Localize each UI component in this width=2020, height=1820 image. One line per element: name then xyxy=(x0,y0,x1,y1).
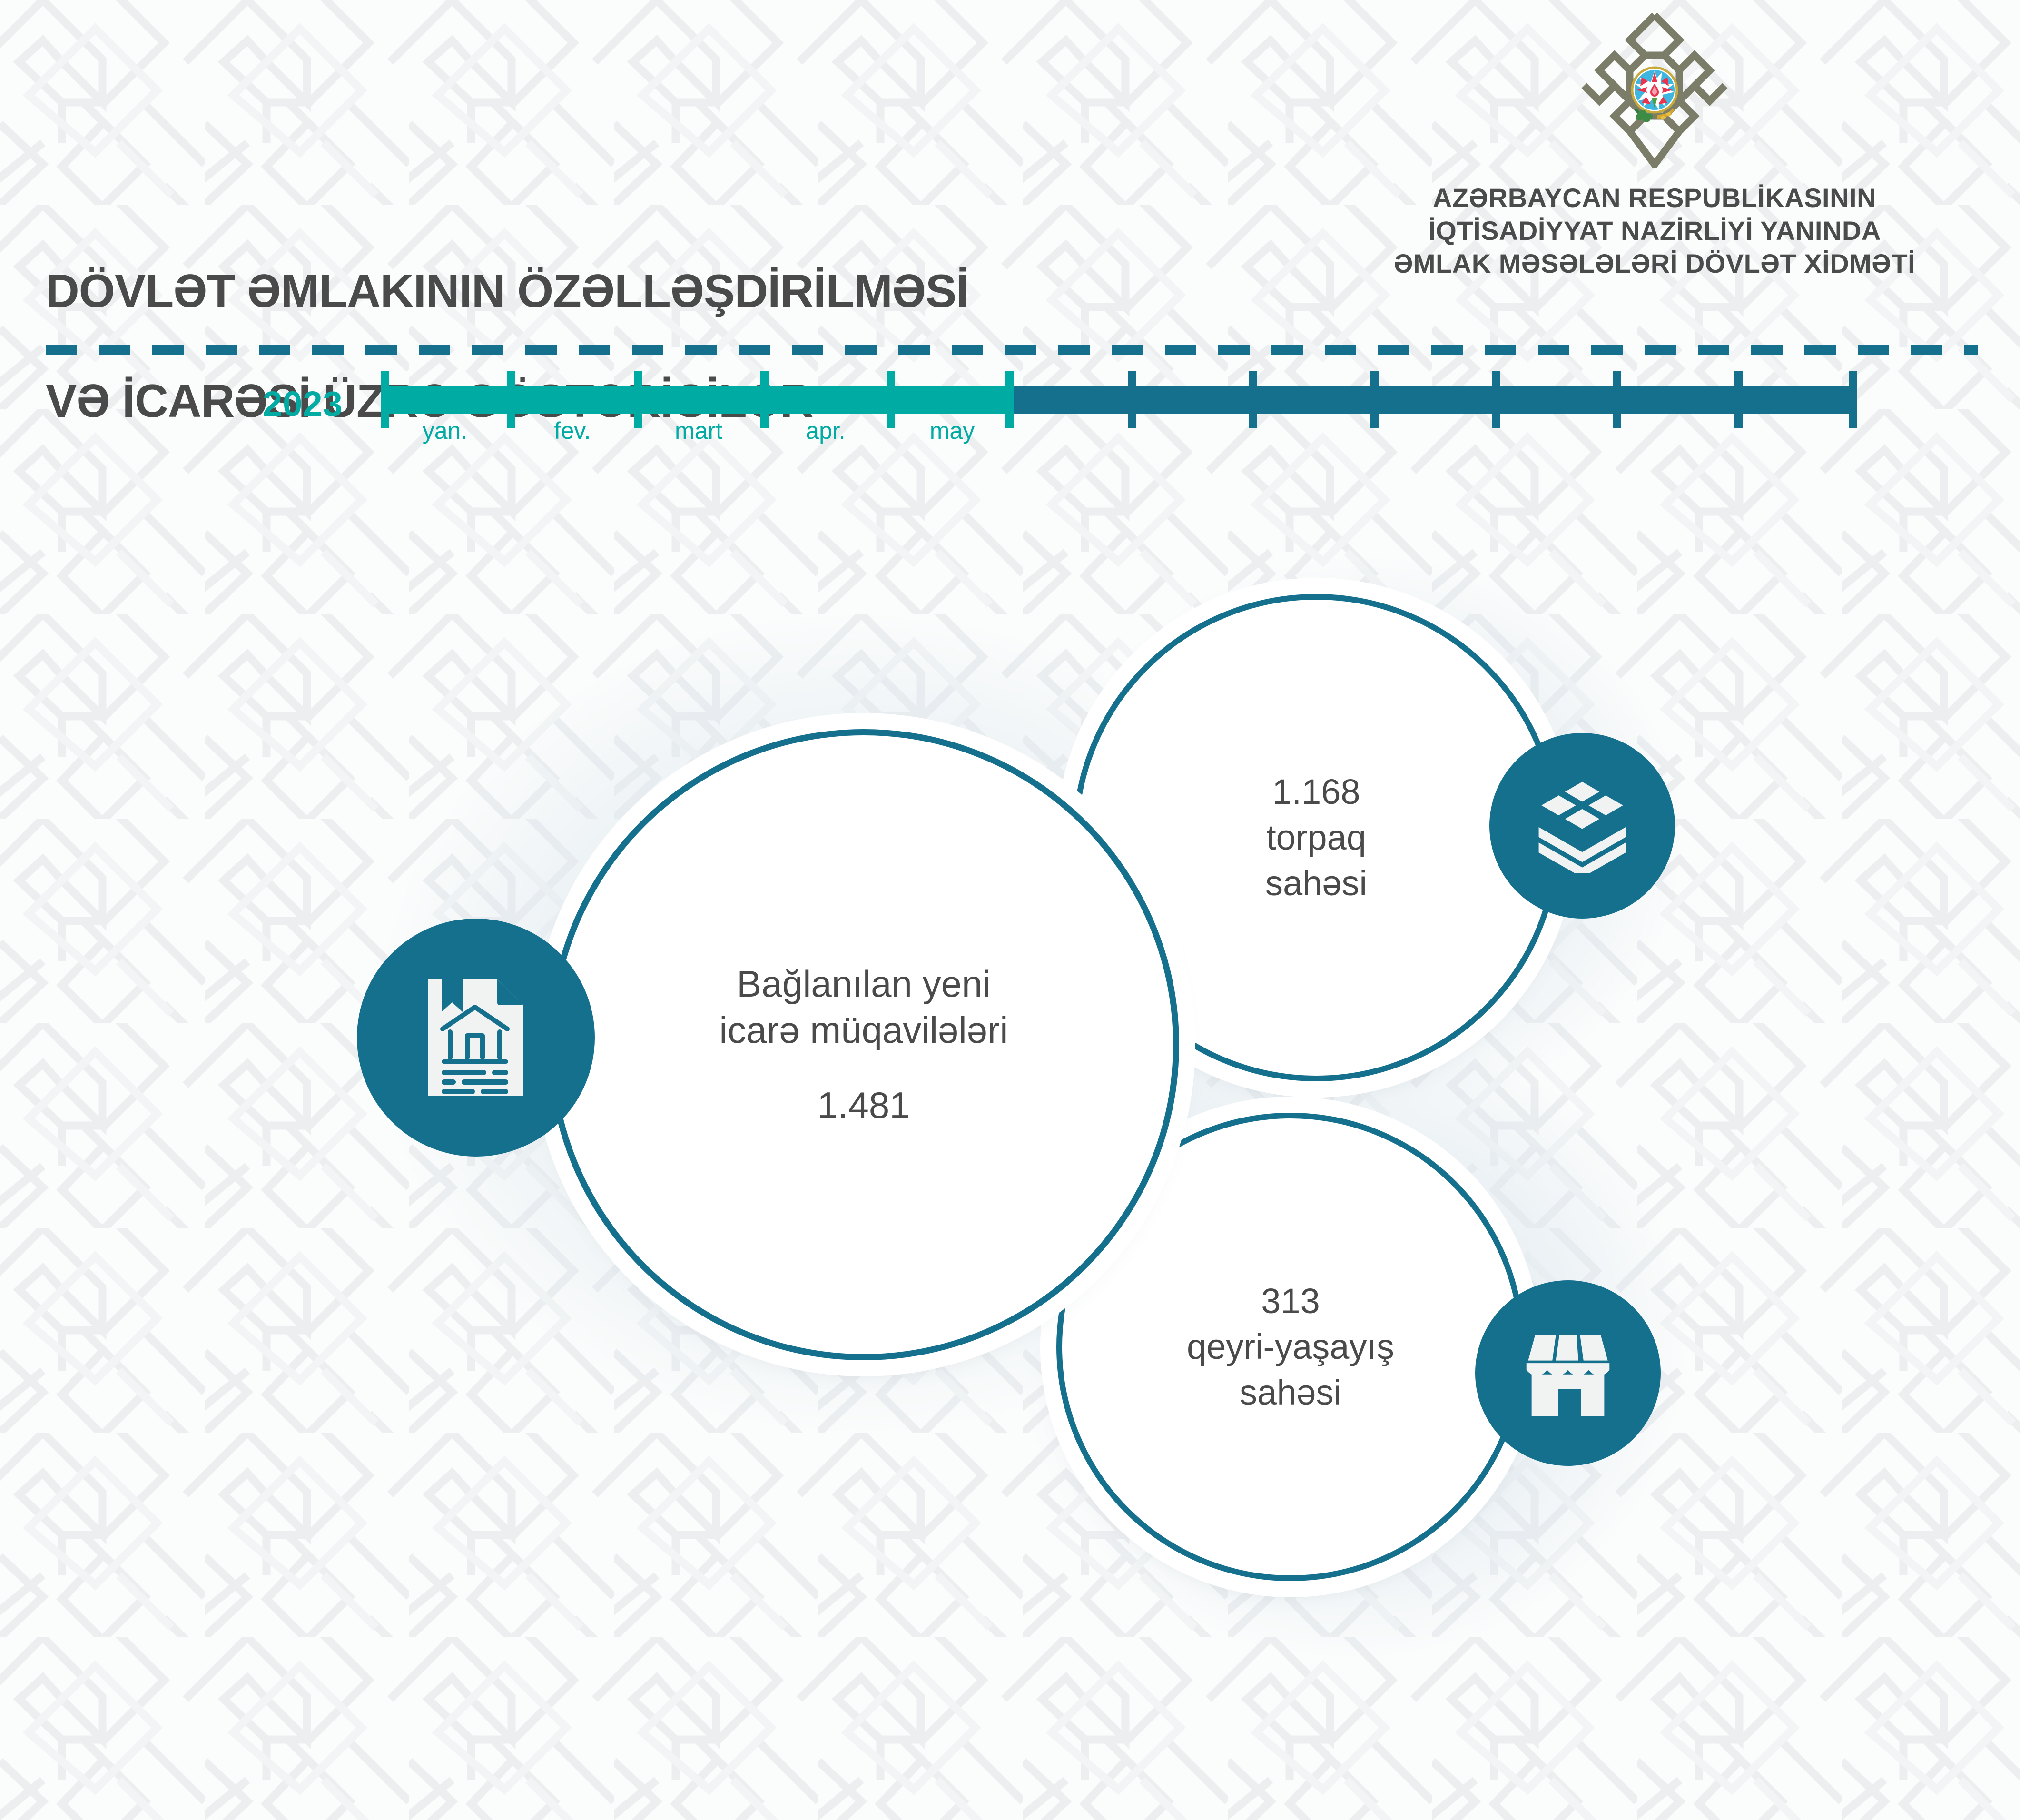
timeline-tick xyxy=(1370,371,1379,428)
metric-land-label-line-1: torpaq xyxy=(1265,815,1367,861)
timeline-tick xyxy=(1734,371,1743,428)
metric-nonresidential-content: 313 qeyri-yaşayış sahəsi xyxy=(1144,1278,1437,1416)
timeline-tick xyxy=(1128,371,1136,428)
organization-name: AZƏRBAYCAN RESPUBLİKASININ İQTİSADİYYAT … xyxy=(1298,182,2011,280)
metric-nonresidential-value: 313 xyxy=(1187,1278,1394,1324)
timeline-tick xyxy=(1492,371,1500,428)
lease-contract-document-icon xyxy=(357,919,595,1157)
timeline-year: 2023 xyxy=(263,384,343,424)
metric-card-lease-contracts[interactable]: Bağlanılan yeni icarə müqavilələri 1.481 xyxy=(548,729,1179,1360)
organization-header: AZƏRBAYCAN RESPUBLİKASININ İQTİSADİYYAT … xyxy=(1298,11,2011,280)
metric-land-content: 1.168 torpaq sahəsi xyxy=(1222,769,1410,907)
timeline-month-label: may xyxy=(893,417,1012,445)
timeline-tick xyxy=(1613,371,1621,428)
metric-lease-label-line-2: icarə müqavilələri xyxy=(719,1007,1008,1054)
azerbaijan-state-emblem-icon xyxy=(1574,11,1735,168)
organization-line-1: AZƏRBAYCAN RESPUBLİKASININ xyxy=(1298,182,2011,215)
timeline-month-label: fev. xyxy=(513,417,632,445)
timeline: 2023 yan. fev. mart apr. may xyxy=(0,371,2020,462)
page-title-line-1: DÖVLƏT ƏMLAKININ ÖZƏLLƏŞDİRİLMƏSİ xyxy=(46,264,969,319)
land-layers-icon xyxy=(1489,733,1675,919)
metric-nonresidential-label-line-1: qeyri-yaşayış xyxy=(1187,1324,1394,1370)
metric-lease-label-line-1: Bağlanılan yeni xyxy=(719,961,1008,1008)
shop-storefront-icon xyxy=(1475,1280,1661,1466)
metric-lease-content: Bağlanılan yeni icarə müqavilələri 1.481 xyxy=(677,961,1051,1129)
organization-line-3: ƏMLAK MƏSƏLƏLƏRİ DÖVLƏT XİDMƏTİ xyxy=(1298,247,2011,280)
timeline-tick xyxy=(1849,371,1857,428)
dashed-divider xyxy=(46,345,1978,355)
infographic-canvas: DÖVLƏT ƏMLAKININ ÖZƏLLƏŞDİRİLMƏSİ VƏ İCA… xyxy=(0,0,2020,1820)
timeline-bar-inactive xyxy=(1014,386,1856,414)
timeline-month-label: yan. xyxy=(385,417,504,445)
metric-lease-value: 1.481 xyxy=(719,1082,1008,1129)
timeline-month-label: mart xyxy=(639,417,758,445)
metric-land-value: 1.168 xyxy=(1265,769,1367,815)
organization-line-2: İQTİSADİYYAT NAZİRLİYİ YANINDA xyxy=(1298,215,2011,247)
metric-nonresidential-label-line-2: sahəsi xyxy=(1187,1370,1394,1415)
timeline-month-label: apr. xyxy=(766,417,885,445)
metric-land-label-line-2: sahəsi xyxy=(1265,861,1367,906)
timeline-bar-active xyxy=(381,386,1014,414)
timeline-tick xyxy=(1249,371,1257,428)
